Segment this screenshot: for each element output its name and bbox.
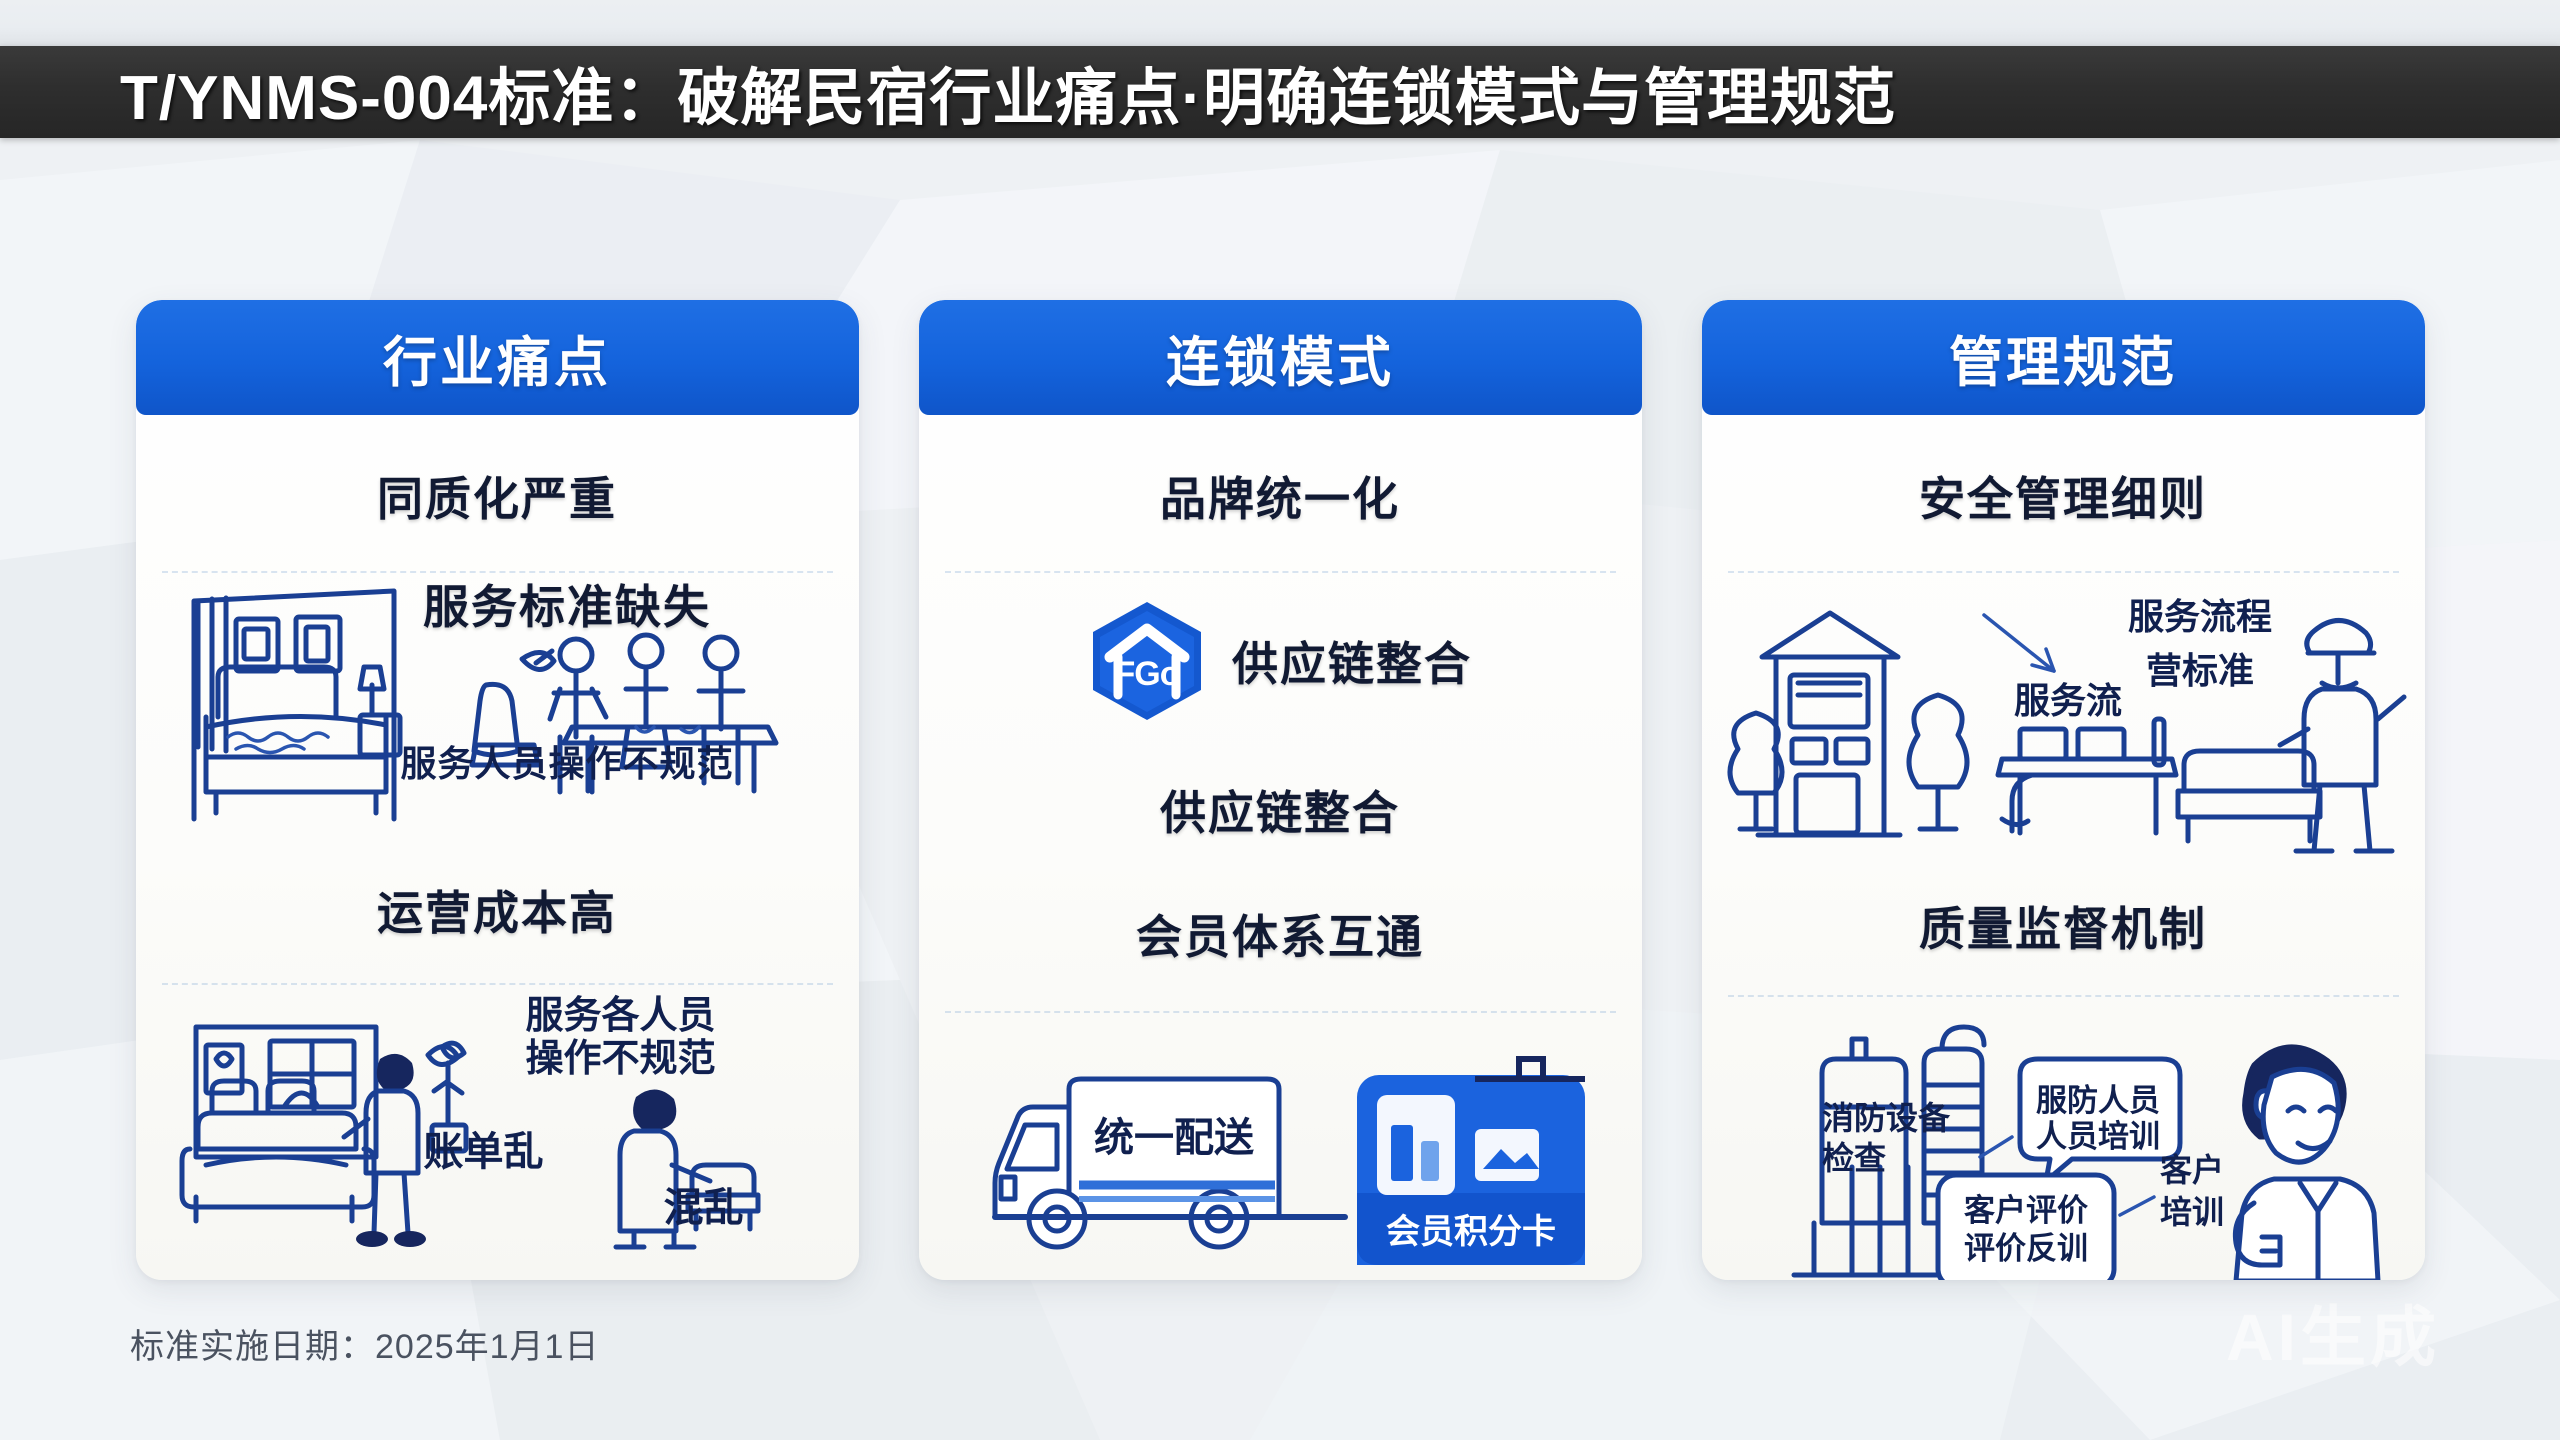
card-header-industry-pain-points: 行业痛点 (136, 300, 859, 415)
illustration-caption-staff-line2: 操作不规范 (526, 1038, 826, 1081)
feature-title-3: 供应链整合 (919, 777, 1642, 843)
card-body-chain-model: 品牌统一化 FGo 供应链整合 供应链整合 会员体系互通 (919, 415, 1642, 1280)
fgo-house-logo-icon: FGo (1088, 599, 1206, 723)
label-customer-training-line2-text: 培训 (2160, 1194, 2224, 1230)
card-header-chain-model: 连锁模式 (919, 300, 1642, 415)
label-fire-equipment-line1-text: 消防设备 (1822, 1100, 1951, 1136)
footer-implementation-date: 标准实施日期：2025年1月1日 (130, 1319, 599, 1368)
illustration-service-flow: 服务流程 营标准 服务流 (1702, 579, 2425, 899)
label-operation-standard-text: 营标准 (2145, 650, 2253, 691)
page-title: T/YNMS-004标准：破解民宿行业痛点·明确连锁模式与管理规范 (120, 47, 1896, 137)
label-customer-review-line1-text: 客户评价 (1964, 1193, 2088, 1228)
label-fire-equipment-line2-text: 检查 (1822, 1140, 1886, 1176)
card-divider-2 (1728, 995, 2399, 997)
card-header-label: 管理规范 (1949, 318, 2177, 397)
illustration-label-bill-chaos: 账单乱 (424, 1130, 544, 1174)
illustration-caption-staff-line1: 服务各人员 (526, 995, 826, 1038)
cards-container: 行业痛点 同质化严重 (0, 300, 2560, 1280)
card-header-label: 连锁模式 (1166, 318, 1394, 397)
illustration-logistics-membership: 统一配送 会员积分卡 (919, 1029, 1642, 1280)
feature-title-2: 质量监督机制 (1702, 893, 2425, 959)
card-divider-1 (945, 571, 1616, 573)
card-body-management-standards: 安全管理细则 (1702, 415, 2425, 1280)
card-divider-2 (945, 1011, 1616, 1013)
feature-title-2: 服务标准缺失 (283, 571, 711, 637)
card-divider-1 (1728, 571, 2399, 573)
card-header-label: 行业痛点 (383, 318, 611, 397)
illustration-service-standard: 服务标准缺失 服务人员操作不规范 (136, 567, 859, 867)
top-strip (0, 0, 2560, 46)
illustration-caption-service-irregular: 服务人员操作不规范 (260, 735, 733, 787)
feature-title-2: 供应链整合 (1232, 628, 1472, 694)
card-industry-pain-points[interactable]: 行业痛点 同质化严重 (136, 300, 859, 1280)
ai-generated-watermark: AI生成 (2226, 1284, 2440, 1380)
title-band: T/YNMS-004标准：破解民宿行业痛点·明确连锁模式与管理规范 (0, 46, 2560, 138)
member-card-label-text: 会员积分卡 (1386, 1213, 1556, 1251)
card-management-standards[interactable]: 管理规范 安全管理细则 (1702, 300, 2425, 1280)
feature-title-4: 会员体系互通 (919, 901, 1642, 967)
svg-text:FGo: FGo (1115, 655, 1180, 693)
feature-title-3: 运营成本高 (136, 877, 859, 943)
label-customer-training-line1-text: 客户 (2160, 1152, 2224, 1188)
card-header-management-standards: 管理规范 (1702, 300, 2425, 415)
feature-title-1: 同质化严重 (136, 463, 859, 529)
label-service-flow-text: 服务流程 (2127, 596, 2271, 637)
card-body-industry-pain-points: 同质化严重 (136, 415, 859, 1280)
label-staff-training-line1-text: 服防人员 (2036, 1083, 2160, 1118)
illustration-operating-cost: 服务各人员 操作不规范 账单乱 混乱 (136, 989, 859, 1279)
label-staff-training-line2-text: 人员培训 (2036, 1119, 2160, 1154)
card-divider-2 (162, 983, 833, 985)
label-service-flow-short-text: 服务流 (2013, 680, 2121, 721)
truck-label-text: 统一配送 (1094, 1116, 1254, 1160)
card-chain-model[interactable]: 连锁模式 品牌统一化 FGo 供应链整合 供应链整合 (919, 300, 1642, 1280)
feature-title-1: 安全管理细则 (1702, 463, 2425, 529)
illustration-quality-supervision: 消防设备 检查 服防人员 人员培训 客户评价 评价反训 (1702, 1007, 2425, 1280)
illustration-label-chaos: 混乱 (664, 1186, 744, 1230)
brand-logo-row: FGo 供应链整合 (919, 599, 1642, 723)
label-customer-review-line2-text: 评价反训 (1964, 1231, 2088, 1266)
feature-title-1: 品牌统一化 (919, 463, 1642, 529)
